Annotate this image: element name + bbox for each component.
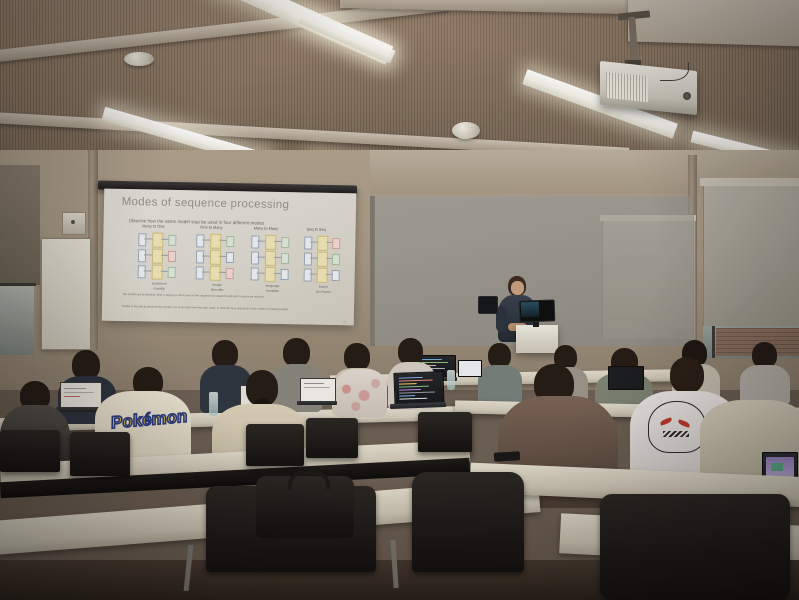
diagram-column-1-header: Many to One <box>142 224 164 229</box>
diagram-column-1-footer-2: classify <box>139 287 179 292</box>
student-head <box>670 357 704 393</box>
speaker-grille-dot <box>71 220 75 224</box>
student-head <box>398 338 423 365</box>
whiteboard <box>41 238 91 350</box>
diagram-column-1-footer-1: sentiment <box>139 282 179 287</box>
student-back-right-1 <box>740 342 790 402</box>
student-mid-floral <box>335 355 387 417</box>
student-torso <box>740 365 790 405</box>
chair-4 <box>70 432 130 476</box>
slide-surface: Modes of sequence processing Observe how… <box>102 189 356 326</box>
water-bottle-3 <box>447 370 455 390</box>
smoke-detector-2 <box>452 122 480 139</box>
graphic-tee-outline <box>648 401 706 453</box>
student-head <box>212 340 238 368</box>
diagram-column-4-footer-1: frame <box>303 285 343 290</box>
projector-vent <box>606 72 648 102</box>
chair-7 <box>412 472 524 572</box>
presenter-face <box>511 281 524 295</box>
diagram-column-3-footer-2: translate <box>252 289 292 294</box>
diagram-column-3: Many to Many language translate <box>248 234 297 296</box>
diagram-column-2-footer-1: image <box>197 283 237 288</box>
diagram-column-4-footer-2: per-frame <box>303 290 343 295</box>
ceiling-beam-4 <box>628 0 799 47</box>
smoke-detector-1 <box>124 52 154 66</box>
student-head <box>283 338 310 367</box>
left-wall-panel <box>0 165 40 285</box>
projector-lens <box>683 92 691 100</box>
backpack-handle <box>288 471 330 489</box>
chair-3 <box>0 430 60 472</box>
secondary-display <box>478 296 498 314</box>
lecture-hall-photo: Modes of sequence processing Observe how… <box>0 0 799 600</box>
diagram-column-3-header: Many to Many <box>254 226 279 231</box>
presenter-monitor-glow <box>521 302 540 318</box>
left-window-frame <box>0 283 36 286</box>
chair-2 <box>306 418 358 458</box>
chair-1 <box>246 424 304 466</box>
projection-screen: Modes of sequence processing Observe how… <box>102 189 356 326</box>
slide-title: Modes of sequence processing <box>122 196 290 211</box>
diagram-column-2: One to Many image describe <box>193 233 242 295</box>
diagram-column-2-footer-2: describe <box>197 288 237 293</box>
chair-8 <box>600 494 790 600</box>
roller-blind-1 <box>703 186 799 326</box>
left-window <box>0 285 34 355</box>
diagram-column-2-header: One to Many <box>200 225 222 230</box>
student-torso-floral <box>335 369 387 417</box>
chair-5 <box>418 412 472 452</box>
slide-body-note-2: Modes in the way to structure the proble… <box>122 305 334 316</box>
slide-page-number: 21 <box>343 321 346 324</box>
laptop-back-2 <box>458 360 482 377</box>
smartphone-on-desk <box>494 451 520 461</box>
diagram-column-4: Seq to Seq frame per-frame <box>301 235 350 297</box>
diagram-column-4-header: Seq to Seq <box>307 227 326 232</box>
diagram-column-3-footer-1: language <box>253 284 293 289</box>
diagram-column-1: Many to One sentiment classify <box>135 231 184 293</box>
blind-headrail-1 <box>700 178 799 186</box>
